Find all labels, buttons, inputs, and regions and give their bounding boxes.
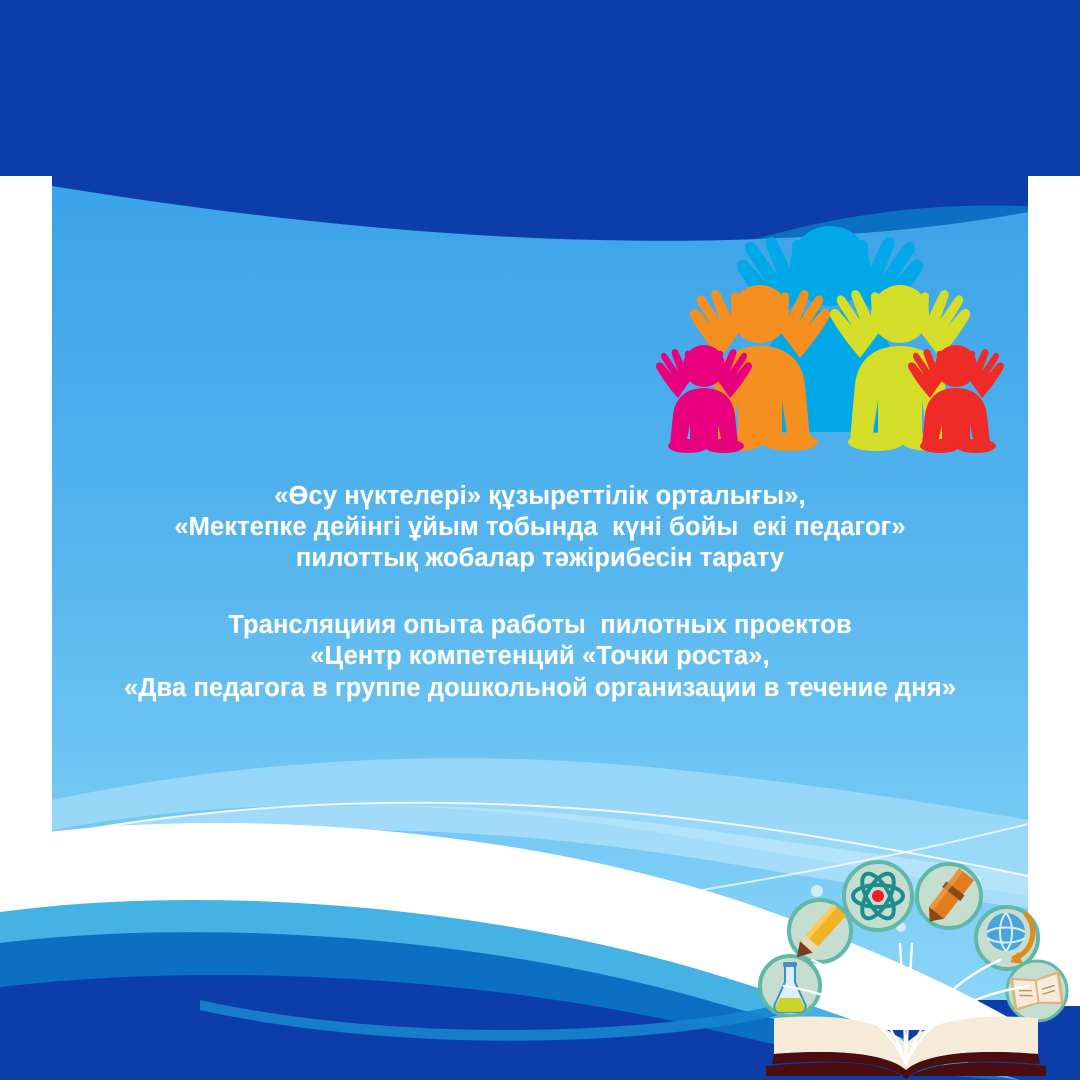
title-ru-line-2: «Центр компетенций «Точки роста», [0,641,1080,672]
pencil-icon [789,900,851,963]
title-kk-line-1: «Өсу нүктелері» құзыреттілік орталығы», [0,481,1080,512]
atom-icon [844,862,912,930]
title-kk-line-3: пилоттық жобалар тәжірибесін тарату [0,543,1080,574]
text-spacer [0,574,1080,610]
title-ru-line-3: «Два педагога в группе дошкольной органи… [0,673,1080,704]
bubble-dot [811,885,823,897]
children-raised-hands-illustration [650,218,1010,470]
title-ru-line-1: Трансляциия опыта работы пилотных проект… [0,610,1080,641]
open-book-illustration [738,848,1080,1080]
crayon-icon [917,864,981,929]
book-icon [1007,961,1067,1021]
title-kk-line-2: «Мектепке дейінгі ұйым тобында күні бойы… [0,512,1080,543]
slide-text-block: «Өсу нүктелері» құзыреттілік орталығы», … [0,481,1080,704]
presentation-slide: «Өсу нүктелері» құзыреттілік орталығы», … [0,0,1080,1080]
globe-icon [976,907,1038,969]
